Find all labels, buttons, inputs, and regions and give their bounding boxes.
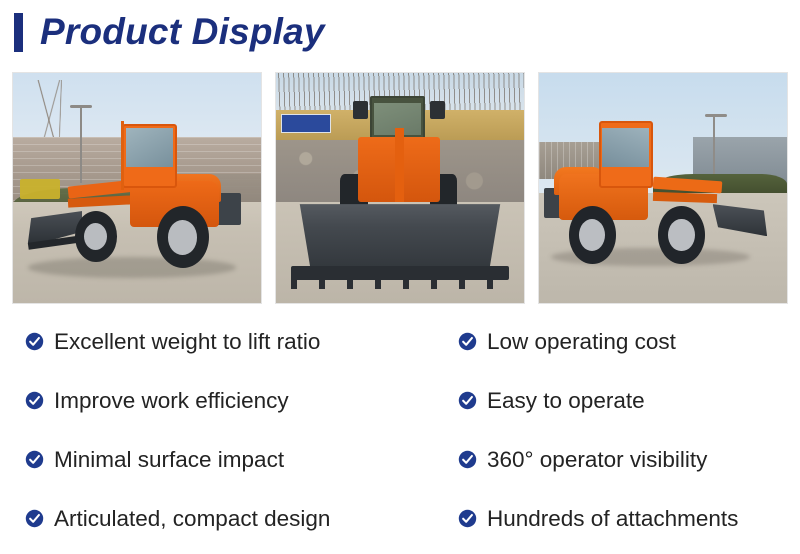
product-photo-front[interactable] — [275, 72, 525, 304]
title-accent-bar — [14, 13, 23, 52]
feature-label: Hundreds of attachments — [487, 506, 738, 532]
feature-item: Low operating cost — [458, 312, 800, 371]
product-display-page: Product Display — [0, 0, 800, 554]
blue-sign — [281, 114, 331, 132]
feature-item: Easy to operate — [458, 371, 800, 430]
check-circle-icon — [25, 391, 44, 410]
cab-glass — [126, 128, 173, 167]
product-photo-side-right[interactable] — [538, 72, 788, 304]
check-circle-icon — [458, 391, 477, 410]
feature-label: Articulated, compact design — [54, 506, 330, 532]
street-light-arm — [705, 114, 727, 117]
feature-label: Improve work efficiency — [54, 388, 289, 414]
machine-shadow — [28, 257, 236, 278]
bucket-teeth — [291, 275, 509, 289]
feature-item: Minimal surface impact — [25, 430, 435, 489]
page-title: Product Display — [40, 8, 325, 56]
street-light-pole — [713, 114, 715, 183]
feature-column-right: Low operating cost Easy to operate 360° … — [458, 312, 800, 548]
check-circle-icon — [25, 509, 44, 528]
check-circle-icon — [458, 332, 477, 351]
loader-arm-lower — [653, 191, 718, 202]
check-circle-icon — [25, 332, 44, 351]
feature-item: Improve work efficiency — [25, 371, 435, 430]
page-header: Product Display — [0, 0, 800, 66]
product-image-gallery — [12, 72, 788, 304]
check-circle-icon — [458, 450, 477, 469]
street-light-pole — [80, 105, 82, 183]
feature-item: Excellent weight to lift ratio — [25, 312, 435, 371]
feature-label: Easy to operate — [487, 388, 645, 414]
feature-item: Hundreds of attachments — [458, 489, 800, 548]
right-mirror — [430, 101, 445, 119]
product-photo-side-left[interactable] — [12, 72, 262, 304]
feature-item: Articulated, compact design — [25, 489, 435, 548]
yellow-machine-background — [20, 179, 60, 200]
check-circle-icon — [25, 450, 44, 469]
check-circle-icon — [458, 509, 477, 528]
cab-post — [121, 121, 124, 190]
loader-bucket — [293, 204, 506, 268]
feature-list: Excellent weight to lift ratio Improve w… — [0, 312, 800, 554]
feature-item: 360° operator visibility — [458, 430, 800, 489]
front-wheel-rim — [668, 219, 694, 251]
center-mast — [395, 128, 404, 202]
rear-wheel-rim — [168, 220, 197, 255]
feature-label: Minimal surface impact — [54, 447, 284, 473]
left-mirror — [353, 101, 368, 119]
feature-label: 360° operator visibility — [487, 447, 707, 473]
feature-label: Low operating cost — [487, 329, 676, 355]
feature-column-left: Excellent weight to lift ratio Improve w… — [25, 312, 435, 548]
feature-label: Excellent weight to lift ratio — [54, 329, 320, 355]
cab-glass — [602, 128, 649, 167]
street-light-arm — [70, 105, 92, 108]
